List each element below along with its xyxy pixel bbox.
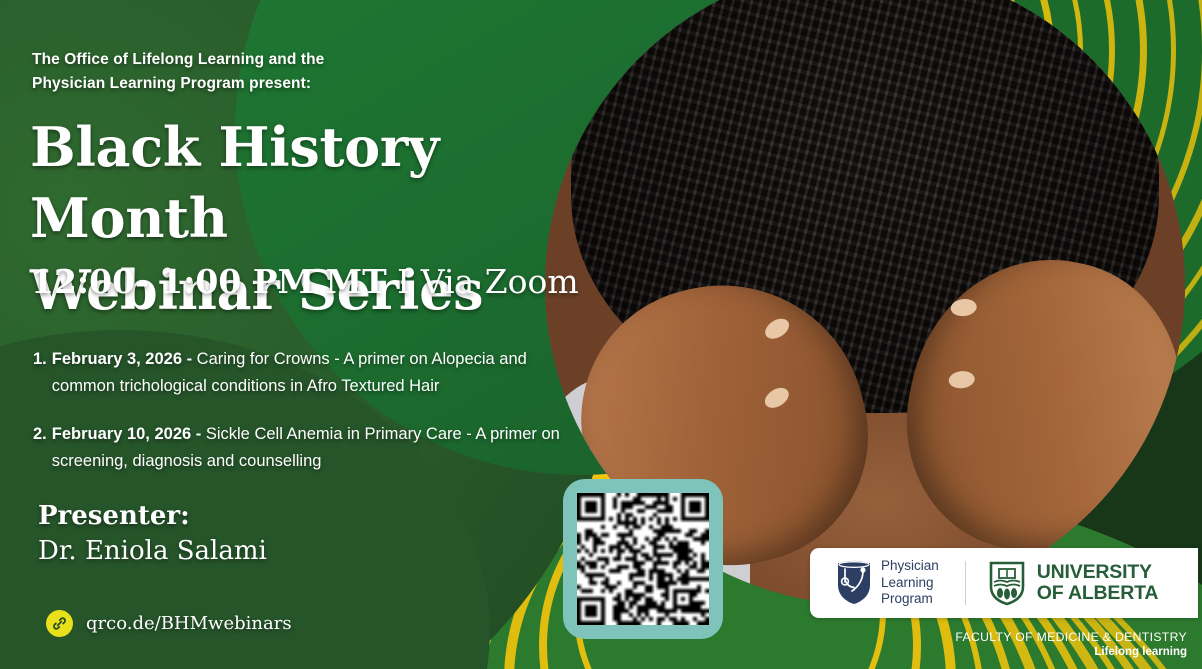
session-text: February 3, 2026 - Caring for Crowns - A… <box>52 346 573 399</box>
ua-shield-icon <box>988 561 1026 606</box>
presenter-block: Presenter: Dr. Eniola Salami <box>38 500 267 569</box>
faculty-wordmark: FACULTY OF MEDICINE & DENTISTRY Lifelong… <box>955 630 1187 660</box>
ua-text-line-1: UNIVERSITY <box>1037 562 1158 583</box>
session-text: February 10, 2026 - Sickle Cell Anemia i… <box>52 421 573 474</box>
plp-text-line-2: Learning <box>881 575 939 592</box>
logo-divider <box>965 561 966 605</box>
university-of-alberta-logo: UNIVERSITY OF ALBERTA <box>988 561 1158 606</box>
time-value: 12:00- 1:00 PM MT <box>31 262 387 301</box>
session-date: February 3, 2026 - <box>52 350 192 368</box>
session-number: 2. <box>33 421 52 448</box>
ua-logo-text: UNIVERSITY OF ALBERTA <box>1037 562 1158 605</box>
photo-fingernail <box>762 384 793 412</box>
list-item: 2. February 10, 2026 - Sickle Cell Anemi… <box>33 421 573 474</box>
session-date: February 10, 2026 - <box>52 425 202 443</box>
photo-fingernail <box>948 370 976 390</box>
poster-canvas: The Office of Lifelong Learning and theP… <box>0 0 1202 669</box>
presenter-label: Presenter: <box>38 500 267 534</box>
list-item: 1. February 3, 2026 - Caring for Crowns … <box>33 346 573 399</box>
presenter-name: Dr. Eniola Salami <box>38 534 267 569</box>
session-list: 1. February 3, 2026 - Caring for Crowns … <box>33 346 573 497</box>
title-line-1: Black History Month <box>30 112 630 255</box>
plp-shield-icon <box>836 560 872 606</box>
platform-value: I Via Zoom <box>387 262 579 301</box>
qr-code[interactable] <box>577 493 709 625</box>
ua-text-line-2: OF ALBERTA <box>1037 583 1158 604</box>
photo-fingernail <box>762 314 793 342</box>
time-and-platform: 12:00- 1:00 PM MT I Via Zoom <box>31 262 579 301</box>
logo-card: Physician Learning Program UNIVERSI <box>810 548 1198 618</box>
physician-learning-program-logo: Physician Learning Program <box>810 558 939 608</box>
plp-logo-text: Physician Learning Program <box>881 558 939 608</box>
plp-text-line-3: Program <box>881 591 939 608</box>
qr-code-tile[interactable] <box>563 479 723 639</box>
url-row[interactable]: qrco.de/BHMwebinars <box>46 610 292 637</box>
plp-text-line-1: Physician <box>881 558 939 575</box>
link-chain-icon <box>46 610 73 637</box>
kicker-text: The Office of Lifelong Learning and theP… <box>32 48 452 95</box>
session-number: 1. <box>33 346 52 373</box>
faculty-subtitle: Lifelong learning <box>955 645 1187 659</box>
text-content-column: The Office of Lifelong Learning and theP… <box>0 0 600 669</box>
photo-fingernail <box>949 298 977 318</box>
url-text[interactable]: qrco.de/BHMwebinars <box>86 613 292 634</box>
faculty-name: FACULTY OF MEDICINE & DENTISTRY <box>955 630 1187 645</box>
